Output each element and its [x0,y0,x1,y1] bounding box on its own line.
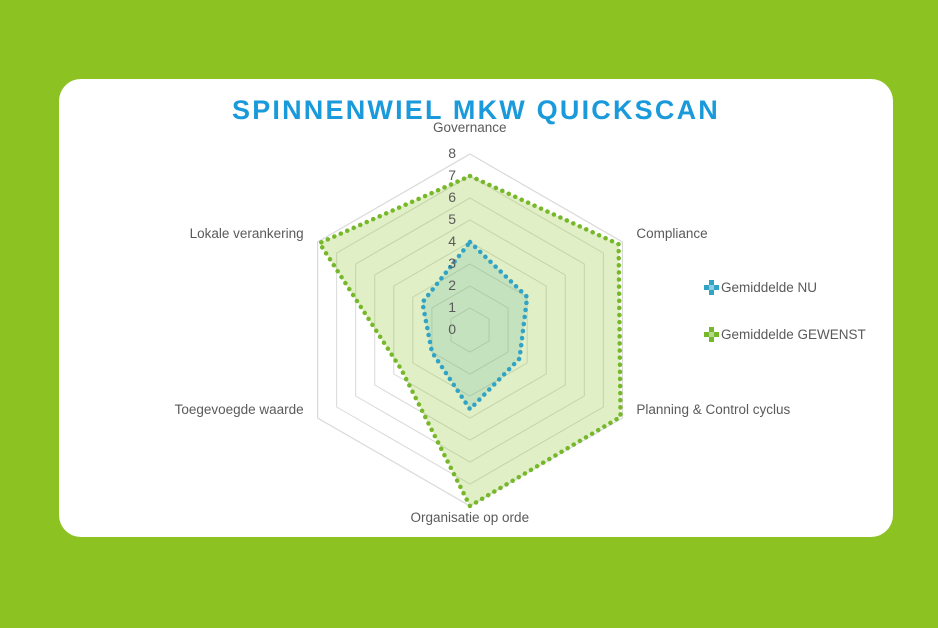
radial-tick-label: 3 [434,255,456,271]
radar-axis-label: Lokale verankering [190,226,304,241]
radial-tick-label: 4 [434,233,456,249]
legend-marker-gewenst-icon [704,327,719,342]
radar-axis-label: Organisatie op orde [411,510,530,525]
legend-marker-nu-icon [704,280,719,295]
radial-tick-label: 6 [434,189,456,205]
radar-axis-label: Governance [433,120,507,135]
radar-series-area [319,176,620,506]
radial-tick-label: 0 [434,321,456,337]
legend-item-gemiddelde-nu[interactable]: Gemiddelde NU [704,279,866,295]
radial-tick-label: 5 [434,211,456,227]
radial-tick-label: 2 [434,277,456,293]
legend-label-nu: Gemiddelde NU [721,280,817,295]
legend-label-gewenst: Gemiddelde GEWENST [721,327,866,342]
radial-tick-label: 1 [434,299,456,315]
radial-tick-label: 8 [434,145,456,161]
chart-card: SPINNENWIEL MKW QUICKSCAN 012345678Gover… [59,79,893,537]
legend-item-gemiddelde-gewenst[interactable]: Gemiddelde GEWENST [704,326,866,342]
radial-tick-label: 7 [434,167,456,183]
radar-axis-label: Toegevoegde waarde [175,402,304,417]
radar-axis-label: Planning & Control cyclus [636,402,790,417]
chart-legend: Gemiddelde NU Gemiddelde GEWENST [704,279,866,373]
radar-axis-label: Compliance [636,226,707,241]
